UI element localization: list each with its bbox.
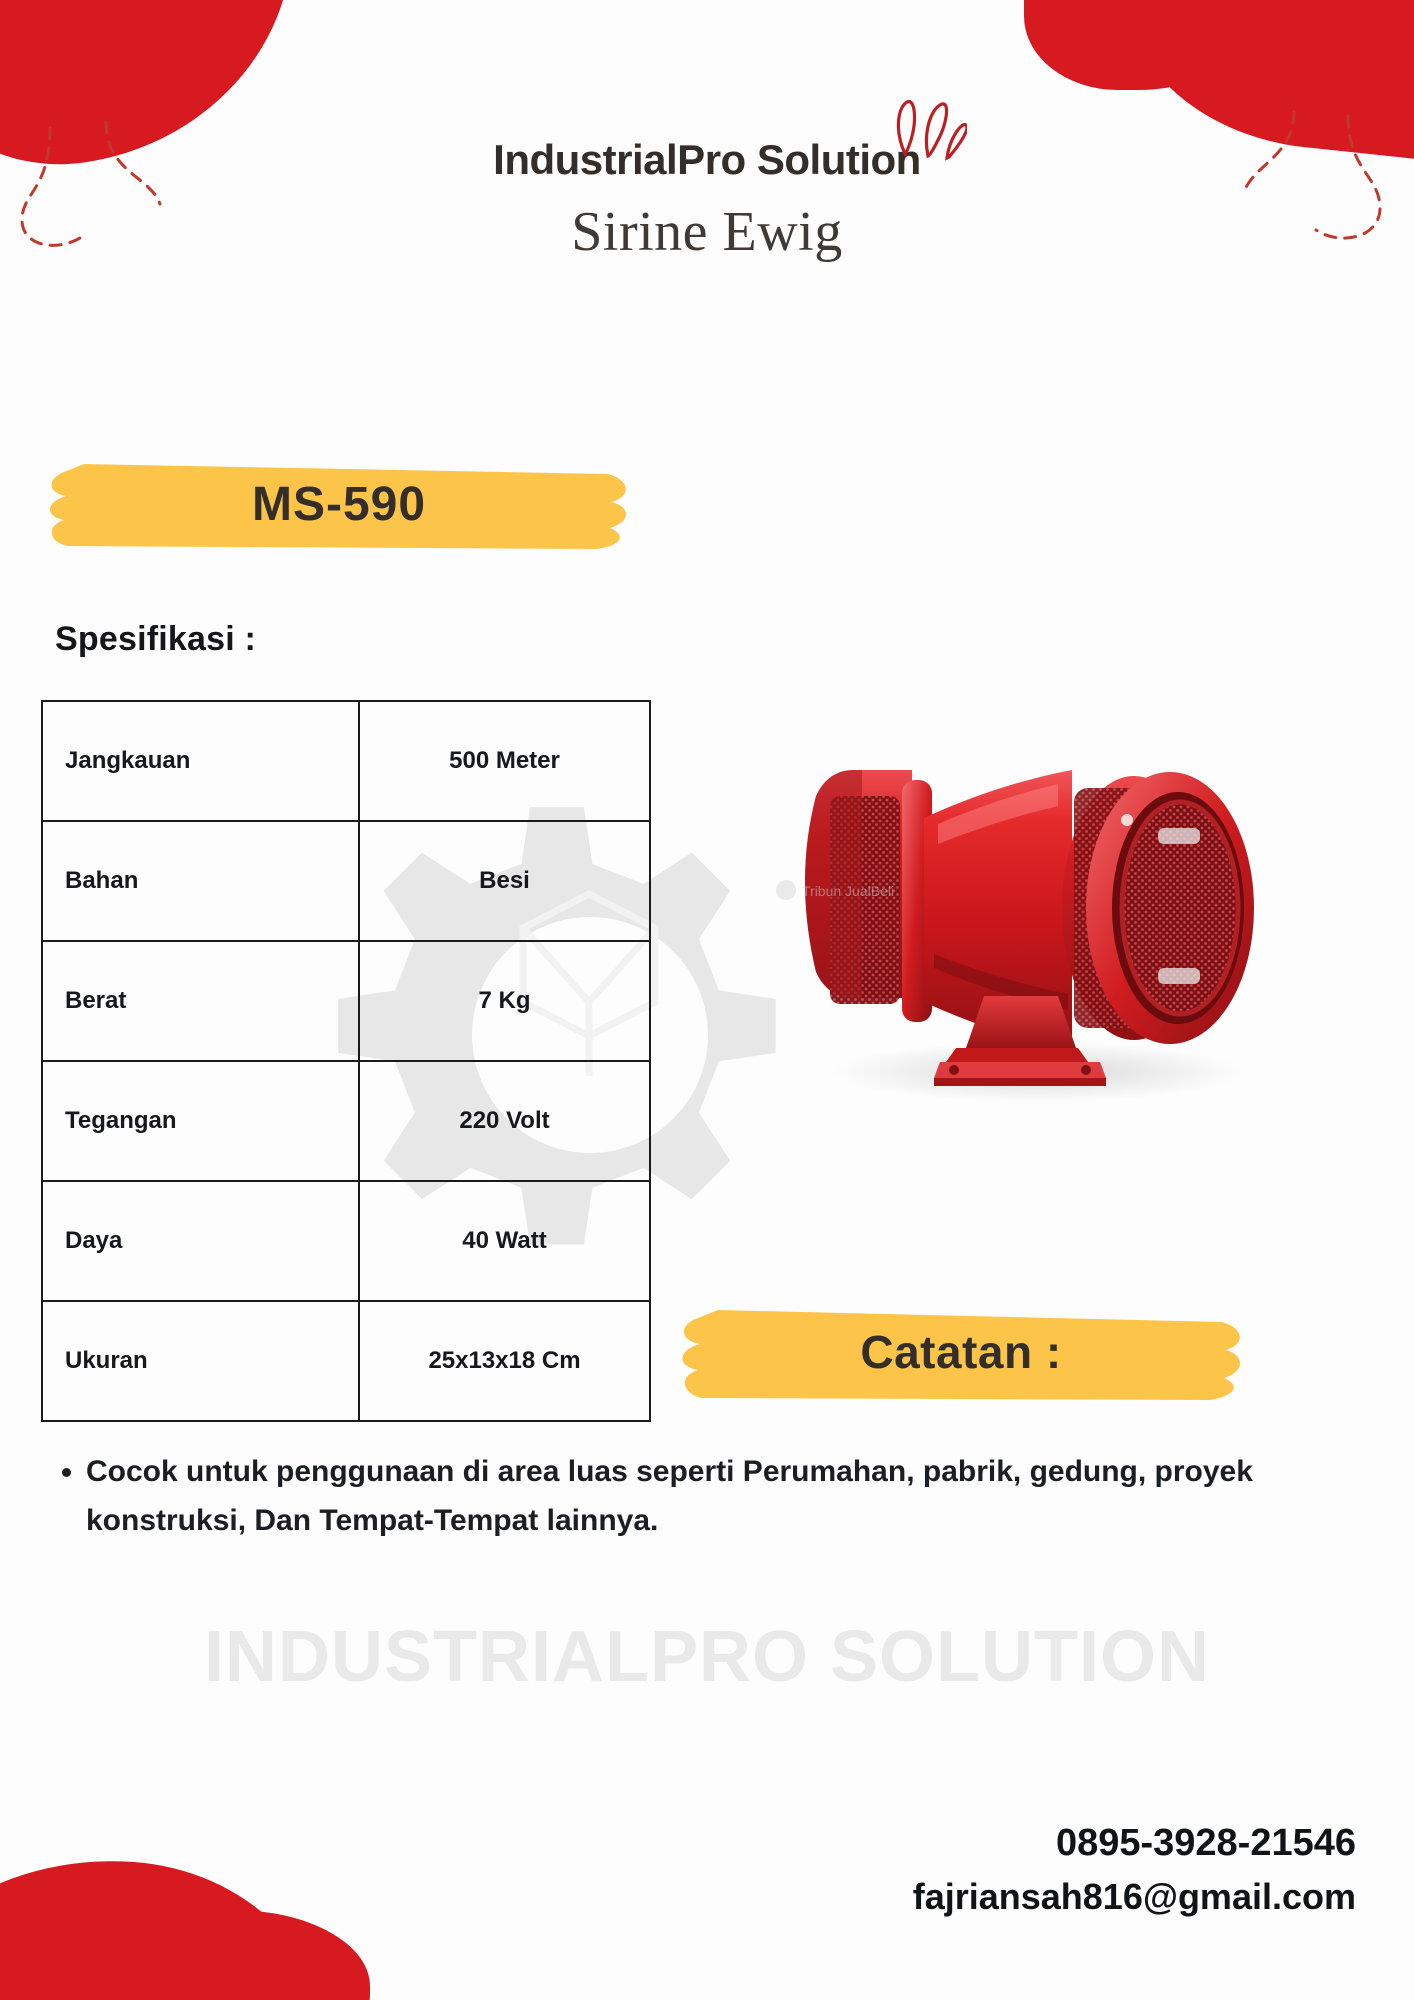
poster-header: IndustrialPro Solution Sirine Ewig [0,136,1414,264]
notes-list: Cocok untuk penggunaan di area luas sepe… [52,1448,1292,1545]
table-row: Jangkauan 500 Meter [42,701,650,821]
spec-key: Tegangan [42,1061,359,1181]
sparkle-burst-icon [887,92,967,162]
model-badge-label: MS-590 [252,477,426,532]
contact-footer: 0895-3928-21546 fajriansah816@gmail.com [913,1817,1356,1922]
spec-value: 7 Kg [359,941,650,1061]
siren-right-drum [1062,772,1254,1044]
table-row: Ukuran 25x13x18 Cm [42,1301,650,1421]
note-badge-label: Catatan : [860,1325,1061,1379]
spec-heading: Spesifikasi : [55,620,256,659]
table-row: Berat 7 Kg [42,941,650,1061]
spec-key: Berat [42,941,359,1061]
note-badge: Catatan : [676,1296,1246,1408]
spec-value: 220 Volt [359,1061,650,1181]
page-title: Sirine Ewig [0,200,1414,264]
photo-watermark: Tribun JualBeli [776,880,894,900]
table-row: Bahan Besi [42,821,650,941]
product-image: Tribun JualBeli [738,700,1298,1120]
spec-value: 500 Meter [359,701,650,821]
table-row: Tegangan 220 Volt [42,1061,650,1181]
spec-key: Daya [42,1181,359,1301]
spec-key: Ukuran [42,1301,359,1421]
contact-phone[interactable]: 0895-3928-21546 [913,1817,1356,1871]
spec-value: Besi [359,821,650,941]
spec-key: Jangkauan [42,701,359,821]
brand-title: IndustrialPro Solution [493,136,921,184]
model-badge: MS-590 [44,452,634,557]
list-item: Cocok untuk penggunaan di area luas sepe… [86,1448,1292,1545]
svg-text:Tribun JualBeli: Tribun JualBeli [802,883,894,899]
spec-value: 25x13x18 Cm [359,1301,650,1421]
spec-key: Bahan [42,821,359,941]
table-row: Daya 40 Watt [42,1181,650,1301]
brand-watermark: INDUSTRIALPRO SOLUTION [0,1616,1414,1698]
contact-email[interactable]: fajriansah816@gmail.com [913,1871,1356,1922]
spec-value: 40 Watt [359,1181,650,1301]
brand-title-text: IndustrialPro Solution [493,136,921,183]
poster-canvas: IndustrialPro Solution Sirine Ewig MS-59… [0,0,1414,2000]
spec-table: Jangkauan 500 Meter Bahan Besi Berat 7 K… [41,700,651,1422]
